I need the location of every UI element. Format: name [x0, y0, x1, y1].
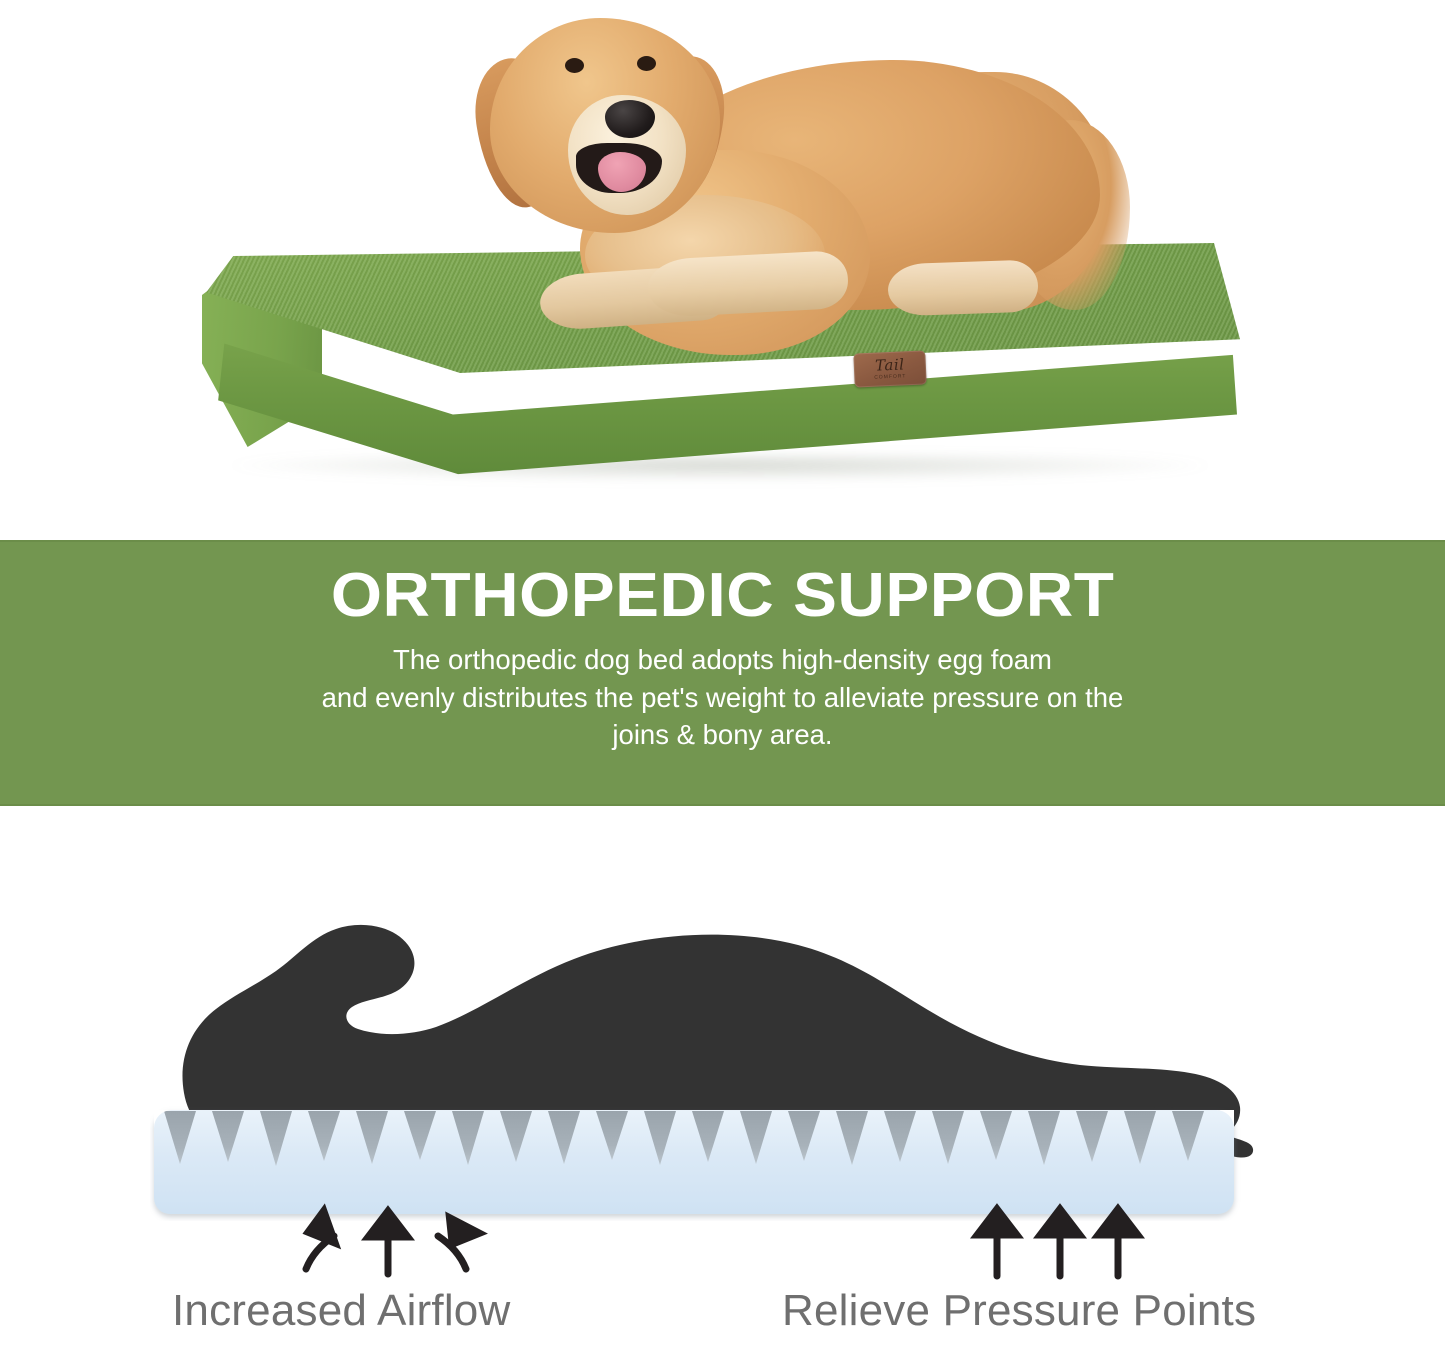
- band-description-line-3: joins & bony area.: [322, 716, 1124, 753]
- band-description-line-1: The orthopedic dog bed adopts high-densi…: [322, 641, 1124, 678]
- band-title: ORTHOPEDIC SUPPORT: [331, 564, 1115, 627]
- pressure-arrow-group: [971, 1204, 1144, 1276]
- brand-logo-patch: Tail COMFORT: [853, 350, 926, 387]
- airflow-arrow-1-head: [303, 1201, 353, 1248]
- pressure-arrow-2-head: [1034, 1204, 1086, 1238]
- product-infographic-page: Tail COMFORT ORTHOPEDIC SUPPORT The orth…: [0, 0, 1445, 1349]
- brand-logo-name: Tail: [875, 357, 905, 373]
- airflow-arrow-2-head: [362, 1206, 414, 1240]
- airflow-and-pressure-arrows: [0, 806, 1445, 1349]
- pressure-arrow-3-head: [1092, 1204, 1144, 1238]
- golden-retriever-dog: [430, 0, 1110, 360]
- band-description-line-2: and evenly distributes the pet's weight …: [322, 679, 1124, 716]
- dog-rear-paw: [887, 259, 1039, 316]
- band-description: The orthopedic dog bed adopts high-densi…: [322, 641, 1124, 753]
- pressure-arrow-1-head: [971, 1204, 1023, 1238]
- dog-front-paw-right: [647, 250, 850, 318]
- dog-eye-left: [565, 58, 584, 73]
- foam-cross-section-diagram: Increased Airflow Relieve Pressure Point…: [0, 806, 1445, 1349]
- dog-eye-right: [637, 56, 656, 71]
- label-relieve-pressure-points: Relieve Pressure Points: [782, 1286, 1256, 1336]
- brand-logo-subtext: COMFORT: [874, 374, 906, 380]
- hero-product-photo: Tail COMFORT: [0, 0, 1445, 540]
- airflow-arrow-group: [303, 1201, 487, 1274]
- orthopedic-support-band: ORTHOPEDIC SUPPORT The orthopedic dog be…: [0, 540, 1445, 806]
- label-increased-airflow: Increased Airflow: [172, 1286, 510, 1336]
